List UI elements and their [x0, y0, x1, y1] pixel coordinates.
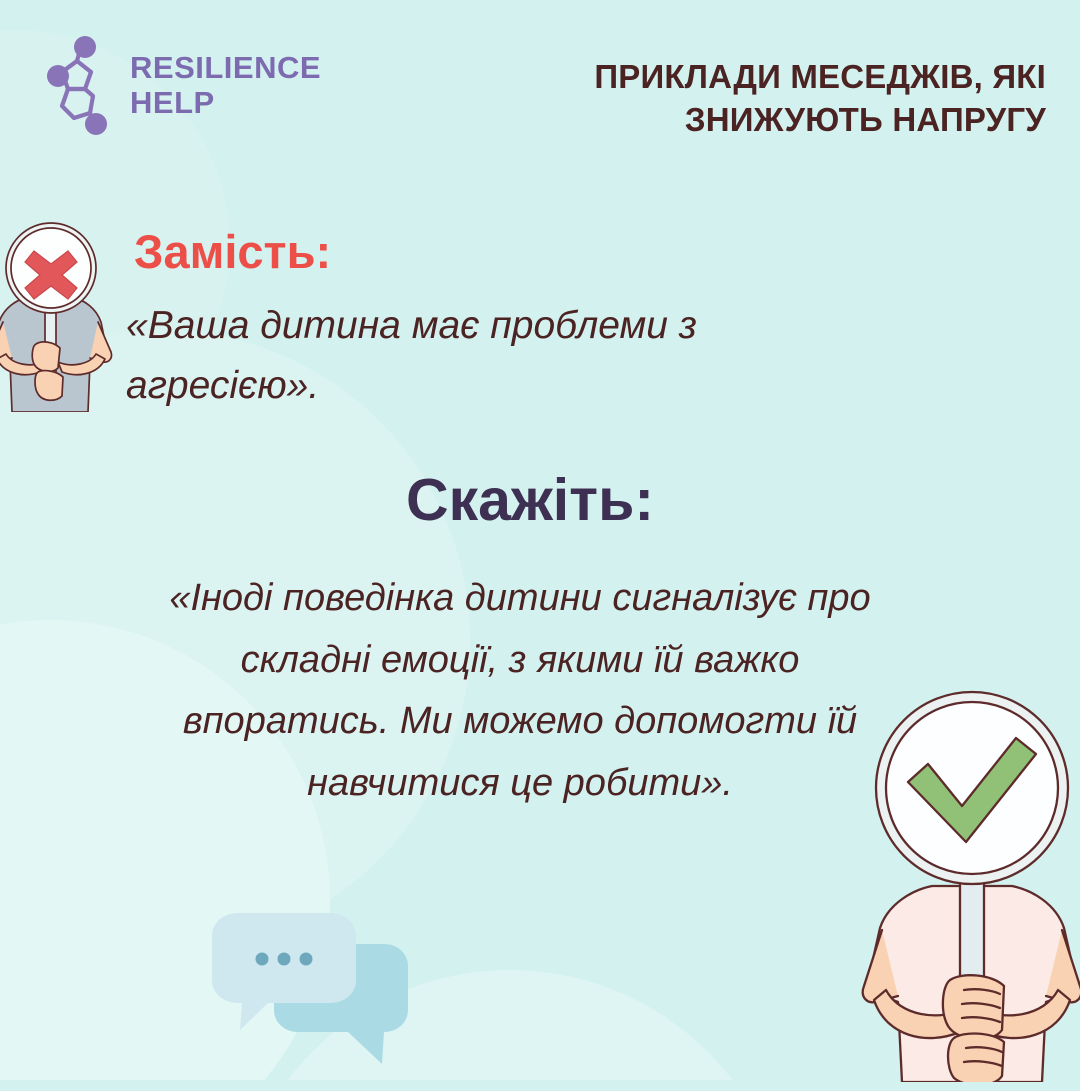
say-heading: Скажіть: — [0, 466, 1080, 534]
brand-logo-text: RESILIENCE HELP — [130, 51, 321, 120]
say-quote: «Іноді поведінка дитини сигналізує про с… — [150, 568, 890, 814]
brand-logo-line1: RESILIENCE — [130, 51, 321, 86]
speech-bubbles-icon — [196, 906, 426, 1086]
brand-logo-line2: HELP — [130, 86, 321, 121]
typing-dots — [256, 953, 313, 966]
poster-root: { "brand": { "logo_line1": "RESILIENCE",… — [0, 0, 1080, 1080]
brand-logo: RESILIENCE HELP — [44, 36, 321, 136]
instead-heading: Замість: — [134, 224, 331, 279]
molecule-icon — [44, 36, 122, 136]
figure-holding-cross-sign — [0, 222, 136, 412]
page-title: ПРИКЛАДИ МЕСЕДЖІВ, ЯКІ ЗНИЖУЮТЬ НАПРУГУ — [486, 56, 1046, 142]
instead-quote: «Ваша дитина має проблеми з агресією». — [126, 296, 826, 417]
